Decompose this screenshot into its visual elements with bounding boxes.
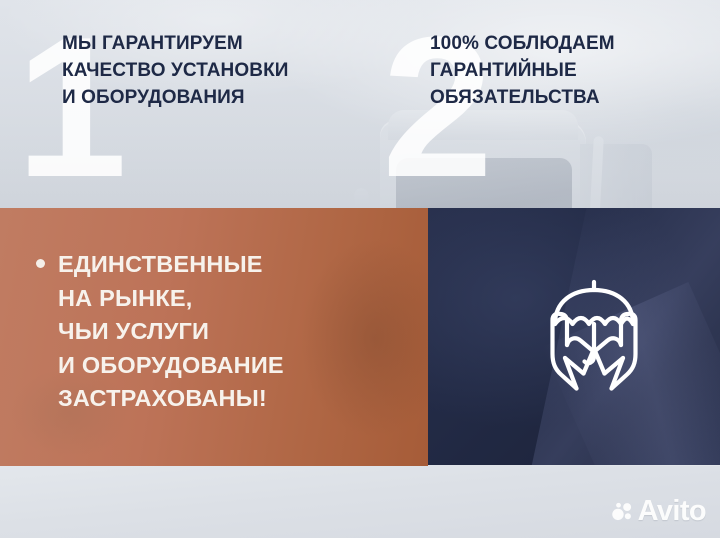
orange-panel-shadow: [300, 238, 428, 438]
orange-feature-panel: ЕДИНСТВЕННЫЕ НА РЫНКЕ, ЧЬИ УСЛУГИ И ОБОР…: [0, 208, 428, 466]
bullet-point-icon: [36, 259, 45, 268]
avito-dots-icon: [611, 501, 633, 523]
avito-watermark: Avito: [611, 497, 706, 526]
insured-claim-text: ЕДИНСТВЕННЫЕ НА РЫНКЕ, ЧЬИ УСЛУГИ И ОБОР…: [58, 248, 284, 416]
insured-claim-block: ЕДИНСТВЕННЫЕ НА РЫНКЕ, ЧЬИ УСЛУГИ И ОБОР…: [36, 248, 284, 416]
avito-wordmark: Avito: [638, 497, 706, 526]
headline-guarantee-quality: МЫ ГАРАНТИРУЕМ КАЧЕСТВО УСТАНОВКИ И ОБОР…: [62, 31, 362, 112]
navy-icon-panel: [428, 208, 720, 465]
promo-poster: 1 2 МЫ ГАРАНТИРУЕМ КАЧЕСТВО УСТАНОВКИ И …: [0, 0, 720, 538]
headline-warranty-obligations: 100% СОБЛЮДАЕМ ГАРАНТИЙНЫЕ ОБЯЗАТЕЛЬСТВА: [430, 31, 700, 112]
umbrella-in-hands-icon: [524, 270, 664, 400]
